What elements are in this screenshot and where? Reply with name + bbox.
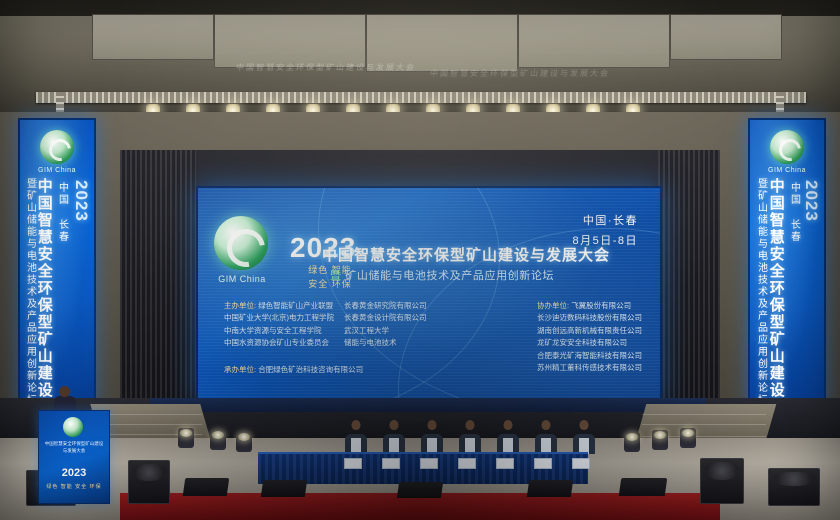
- moving-head-light: [236, 432, 252, 452]
- table-namecard: [458, 458, 476, 469]
- panelist: [344, 420, 368, 454]
- panelist: [458, 420, 482, 454]
- event-standee: 中国智慧安全环保型矿山建设与发展大会 2023 绿色 智能 安全 环保: [38, 410, 110, 504]
- standee-year: 2023: [39, 467, 109, 479]
- panelist-head: [428, 420, 437, 430]
- gim-logo-icon: [214, 216, 268, 270]
- event-title-sub: 矿山储能与电池技术及产品应用创新论坛: [345, 270, 554, 282]
- supporter-item: 长沙迪迈数码科技股份有限公司: [537, 312, 642, 324]
- panelist-head: [580, 420, 589, 430]
- speaker-stack-right-mid: [700, 458, 744, 504]
- hosts-label: 主办单位:: [224, 301, 256, 310]
- stage-apron: [150, 398, 706, 412]
- moving-head-light: [624, 432, 640, 452]
- logo-caption: GIM China: [208, 274, 276, 284]
- step-edge: [642, 424, 766, 425]
- panelist: [534, 420, 558, 454]
- event-title-sub-prefix: 暨: [330, 270, 342, 282]
- speaker-stack-left-mid: [128, 460, 170, 504]
- panelist-head: [504, 420, 513, 430]
- conference-stage-photo: 中国智慧安全环保型矿山建设与发展大会 中国智慧安全环保型矿山建设与发展大会 GI…: [0, 0, 840, 520]
- attendee-head: [59, 386, 70, 397]
- led-banner-right: GIM China 2023 中国 长春 中国智慧安全环保型矿山建设与发展大会 …: [748, 118, 826, 406]
- moving-head-light: [652, 430, 668, 450]
- speaker-stack-right-low: [768, 468, 820, 506]
- host-item: 长春黄金研究院有限公司: [344, 300, 427, 312]
- host-item: 中国矿业大学(北京)电力工程学院: [224, 312, 334, 324]
- panelist: [572, 420, 596, 454]
- panelist: [496, 420, 520, 454]
- panelist-head: [466, 420, 475, 430]
- host-item: 中国水资源协会矿山专业委员会: [224, 337, 334, 349]
- supporter-item: 合肥泰光矿海智能科技有限公司: [537, 350, 642, 362]
- event-place-block: 中国·长春 8月5日-8日: [572, 212, 638, 252]
- panelist-head: [390, 420, 399, 430]
- step-edge: [98, 424, 202, 425]
- table-namecard: [534, 458, 552, 469]
- ceiling-panel: [92, 14, 214, 60]
- logo-caption: GIM China: [20, 167, 94, 174]
- ceiling-projected-text: 中国智慧安全环保型矿山建设与发展大会: [429, 68, 610, 79]
- step-edge: [98, 414, 202, 415]
- table-namecard: [382, 458, 400, 469]
- table-namecard: [420, 458, 438, 469]
- banner-title-line-2: 暨矿山储能与电池技术及产品应用创新论坛: [24, 178, 35, 406]
- ceiling-projected-text: 中国智慧安全环保型矿山建设与发展大会: [235, 62, 416, 73]
- banner-city: 中国 长春: [56, 182, 67, 243]
- event-title-sub-wrap: 暨 矿山储能与电池技术及产品应用创新论坛: [330, 267, 554, 283]
- panelist-head: [352, 420, 361, 430]
- host-item: 武汉工程大学: [344, 325, 427, 337]
- organizer-block: 承办单位: 合肥绿色矿治科技咨询有限公司: [224, 364, 363, 375]
- ceiling-panel: [670, 14, 782, 60]
- organizer-value: 合肥绿色矿治科技咨询有限公司: [258, 365, 363, 374]
- supporter-item: 飞翼股份有限公司: [571, 301, 631, 310]
- moving-head-light: [210, 430, 226, 450]
- lighting-truss-main: [36, 92, 806, 103]
- banner-title-line-2: 暨矿山储能与电池技术及产品应用创新论坛: [755, 178, 766, 406]
- stage-curtain-right: [658, 150, 720, 400]
- floor-monitor: [397, 482, 443, 498]
- host-item: 储能与电池技术: [344, 337, 427, 349]
- supporters-block: 协办单位: 飞翼股份有限公司 长沙迪迈数码科技股份有限公司 湖南创远高新机械有限…: [537, 300, 642, 374]
- host-item: 中南大学资源与安全工程学院: [224, 325, 334, 337]
- step-edge: [642, 414, 766, 415]
- floor-monitor: [183, 478, 230, 496]
- led-banner-left: GIM China 2023 中国 长春 中国智慧安全环保型矿山建设与发展大会 …: [18, 118, 96, 406]
- banner-year: 2023: [72, 180, 90, 222]
- floor-monitor: [619, 478, 668, 496]
- organizer-label: 承办单位:: [224, 365, 256, 374]
- event-city: 中国·长春: [572, 212, 638, 232]
- hosts-column-1: 主办单位: 绿色智能矿山产业联盟 中国矿业大学(北京)电力工程学院 中南大学资源…: [224, 300, 334, 350]
- table-namecard: [496, 458, 514, 469]
- gim-logo-icon: [770, 130, 804, 164]
- hosts-block: 主办单位: 绿色智能矿山产业联盟 中国矿业大学(北京)电力工程学院 中南大学资源…: [224, 300, 427, 350]
- table-namecard: [572, 458, 590, 469]
- supporter-item: 苏州精工董科传感技术有限公司: [537, 362, 642, 374]
- event-date: 8月5日-8日: [572, 232, 638, 252]
- table-namecard: [344, 458, 362, 469]
- stage-curtain-left: [120, 150, 196, 400]
- panelist: [420, 420, 444, 454]
- banner-title-line-1: 中国智慧安全环保型矿山建设与发展大会: [36, 178, 52, 406]
- supporter-item: 龙矿龙安安全科技有限公司: [537, 337, 642, 349]
- host-item: 绿色智能矿山产业联盟: [258, 301, 333, 310]
- banner-title-line-1: 中国智慧安全环保型矿山建设与发展大会: [768, 178, 784, 406]
- moving-head-light: [178, 428, 194, 448]
- supporters-label: 协办单位:: [537, 301, 569, 310]
- panelist: [382, 420, 406, 454]
- host-item: 长春黄金设计院有限公司: [344, 312, 427, 324]
- hosts-column-2: 长春黄金研究院有限公司 长春黄金设计院有限公司 武汉工程大学 储能与电池技术: [344, 300, 427, 350]
- floor-monitor: [527, 480, 573, 497]
- event-title-main: 中国智慧安全环保型矿山建设与发展大会: [322, 244, 610, 265]
- logo-caption: GIM China: [750, 167, 824, 174]
- standee-caption: 中国智慧安全环保型矿山建设与发展大会: [43, 441, 105, 455]
- main-led-screen: GIM China 2023 绿色 智能 安全 环保 中国智慧安全环保型矿山建设…: [196, 186, 662, 402]
- floor-monitor: [261, 480, 307, 497]
- moving-head-light: [680, 428, 696, 448]
- gim-logo-icon: [63, 417, 83, 437]
- panelist-head: [542, 420, 551, 430]
- supporter-item: 湖南创远高新机械有限责任公司: [537, 325, 642, 337]
- standee-slogan: 绿色 智能 安全 环保: [39, 483, 109, 490]
- ceiling-panel: [214, 14, 366, 68]
- banner-city: 中国 长春: [788, 182, 799, 243]
- gim-logo-icon: [40, 130, 74, 164]
- banner-year: 2023: [802, 180, 820, 222]
- ceiling-panel: [518, 14, 670, 68]
